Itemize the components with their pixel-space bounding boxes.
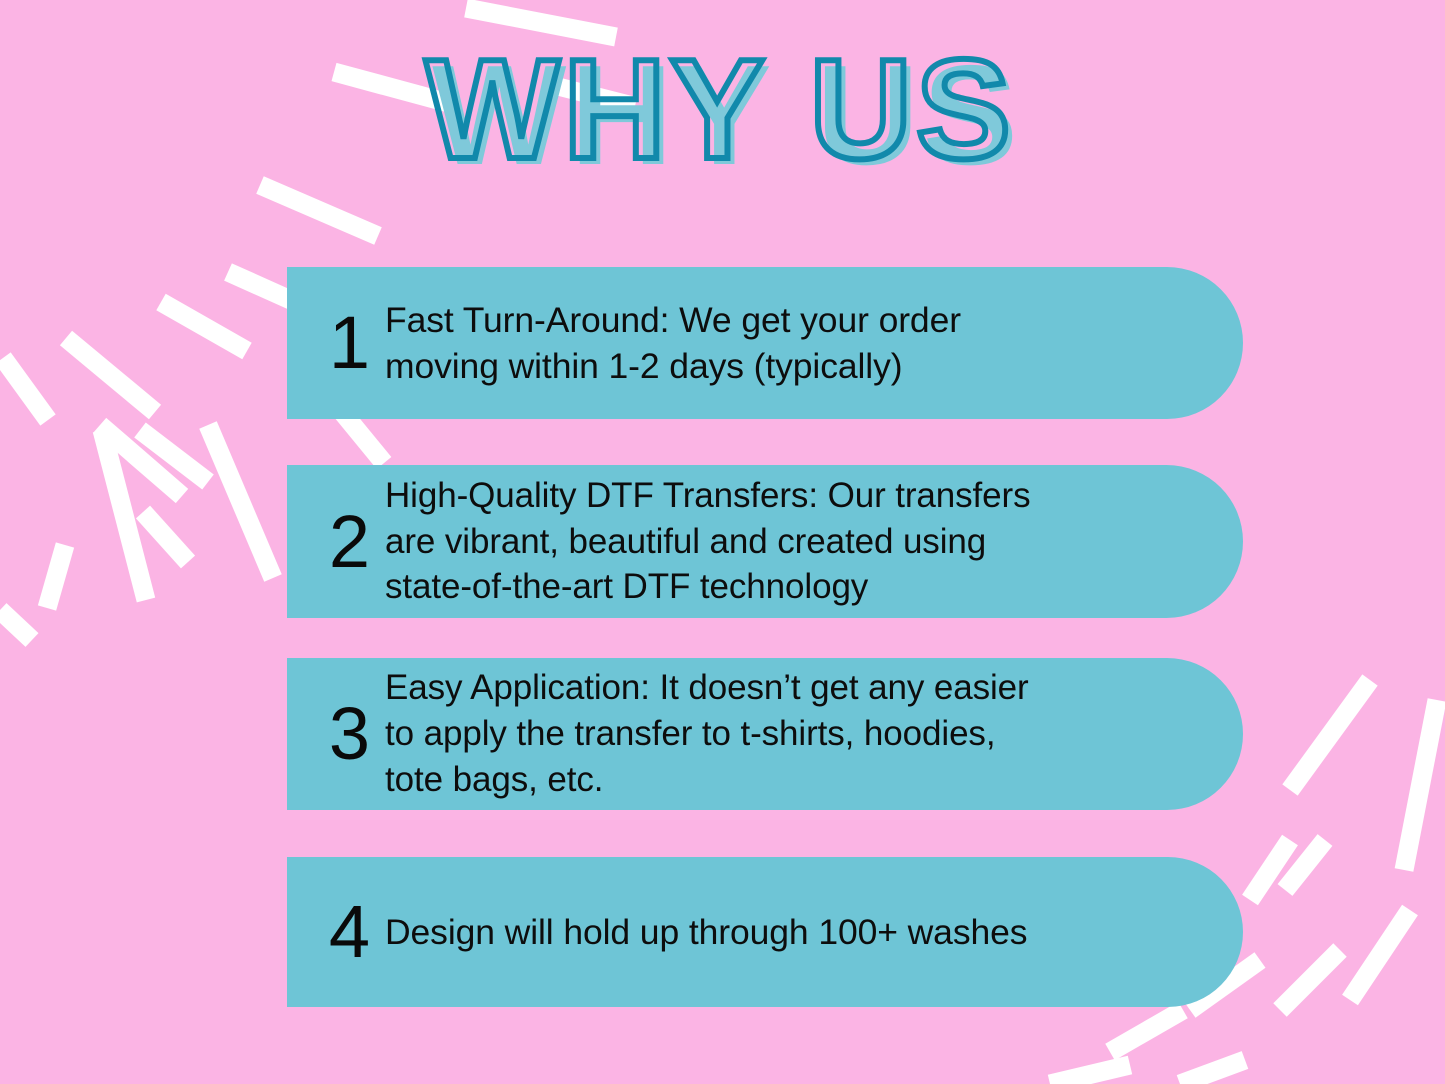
dash-stripe xyxy=(1050,1065,1130,1084)
dash-stripe xyxy=(0,610,32,640)
poster-canvas: WHY US WHY US 1 Fast Turn-Around: We get… xyxy=(0,0,1445,1084)
dash-stripe xyxy=(1350,910,1410,1000)
benefit-number-4: 4 xyxy=(313,895,385,969)
benefit-text-3: Easy Application: It doesn’t get any eas… xyxy=(385,665,1243,803)
dash-stripe xyxy=(161,302,247,351)
benefit-card-1: 1 Fast Turn-Around: We get your order mo… xyxy=(287,267,1243,419)
benefit-text-4: Design will hold up through 100+ washes xyxy=(385,909,1243,955)
dash-stripe xyxy=(1404,700,1437,870)
dash-stripe xyxy=(3,358,48,420)
benefit-number-1: 1 xyxy=(313,306,385,380)
benefit-text-2: High-Quality DTF Transfers: Our transfer… xyxy=(385,473,1243,611)
title-outline-layer: WHY US xyxy=(425,30,1014,189)
dash-stripe xyxy=(140,430,208,482)
dash-stripe xyxy=(1110,1010,1183,1052)
dash-stripe xyxy=(228,272,295,302)
dash-stripe xyxy=(1280,950,1340,1010)
benefit-card-4: 4 Design will hold up through 100+ washe… xyxy=(287,857,1243,1007)
page-title: WHY US WHY US xyxy=(0,38,1445,198)
dash-stripe xyxy=(100,425,182,496)
dash-stripe xyxy=(1290,680,1370,790)
benefit-text-1: Fast Turn-Around: We get your order movi… xyxy=(385,297,1243,389)
benefit-card-3: 3 Easy Application: It doesn’t get any e… xyxy=(287,658,1243,810)
dash-stripe xyxy=(208,425,273,578)
benefit-number-3: 3 xyxy=(313,697,385,771)
title-graphic: WHY US WHY US xyxy=(0,38,1445,198)
dash-stripe xyxy=(66,338,155,412)
dash-stripe xyxy=(1250,840,1290,900)
dash-stripe xyxy=(102,430,146,600)
dash-stripe xyxy=(1180,1060,1245,1084)
benefit-number-2: 2 xyxy=(313,505,385,579)
dash-stripe xyxy=(1285,840,1325,890)
dash-stripe xyxy=(47,545,65,608)
benefit-card-2: 2 High-Quality DTF Transfers: Our transf… xyxy=(287,465,1243,618)
dash-stripe xyxy=(143,512,188,562)
